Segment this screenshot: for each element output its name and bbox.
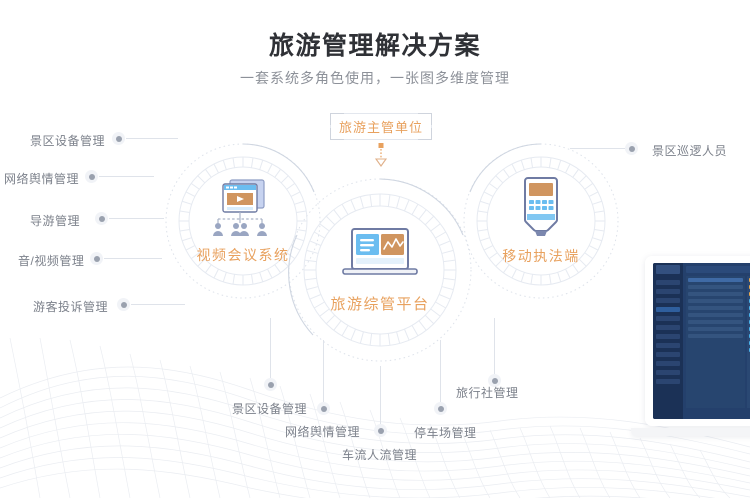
tree-row (688, 320, 743, 324)
sidebar-row (656, 379, 680, 384)
left-line-0 (126, 138, 178, 139)
left-label-3: 音/视频管理 (18, 252, 84, 269)
video-conference-icon (206, 177, 280, 239)
bracket-edge-top (344, 113, 418, 114)
tree-row (688, 299, 743, 303)
tree-row (688, 334, 743, 338)
node-label-mobile-enforcement: 移动执法端 (502, 246, 580, 266)
bracket-edge-bottom (344, 139, 418, 140)
dashboard-ui-mock (653, 263, 750, 419)
bottom-dot-0[interactable] (264, 378, 277, 391)
bottom-line-2 (380, 366, 381, 424)
handheld-terminal-icon (516, 176, 566, 240)
bottom-label-1: 网络舆情管理 (285, 423, 360, 440)
bracket-edge-right (431, 125, 432, 128)
dashboard-brand (656, 265, 680, 274)
bottom-label-0: 景区设备管理 (232, 400, 307, 417)
infographic-canvas: 旅游管理解决方案 一套系统多角色使用，一张图多维度管理 旅游主管单位 (0, 0, 750, 498)
node-label-tourism-platform: 旅游综管平台 (330, 293, 429, 314)
bottom-line-0 (270, 318, 271, 378)
sidebar-row-selected (656, 307, 680, 312)
node-label-video-conference: 视频会议系统 (197, 245, 290, 265)
left-dot-1[interactable] (85, 170, 98, 183)
left-line-2 (109, 218, 164, 219)
tree-row (688, 306, 743, 310)
dashboard-tree-panel (686, 276, 745, 408)
tree-row (688, 313, 743, 317)
laptop-dashboard-icon (339, 227, 421, 287)
sidebar-row (656, 370, 680, 375)
left-dot-2[interactable] (95, 212, 108, 225)
sidebar-row (656, 298, 680, 303)
authority-badge[interactable]: 旅游主管单位 (330, 113, 432, 140)
authority-down-arrow-icon (372, 143, 390, 169)
right-line-0 (570, 148, 625, 149)
sidebar-row (656, 334, 680, 339)
right-label-0: 景区巡逻人员 (652, 142, 727, 159)
sidebar-row (656, 280, 680, 285)
sidebar-row (656, 343, 680, 348)
authority-label: 旅游主管单位 (339, 117, 423, 136)
sidebar-row (656, 361, 680, 366)
left-line-3 (104, 258, 162, 259)
dashboard-body (686, 276, 750, 408)
left-label-4: 游客投诉管理 (33, 298, 108, 315)
page-title: 旅游管理解决方案 (0, 26, 750, 62)
dashboard-sidebar (653, 263, 683, 419)
bottom-line-4 (494, 318, 495, 374)
node-tourism-platform[interactable]: 旅游综管平台 (287, 177, 473, 363)
bottom-label-3: 停车场管理 (414, 424, 477, 441)
right-dot-0[interactable] (625, 142, 638, 155)
sidebar-row (656, 316, 680, 321)
bottom-label-4: 旅行社管理 (456, 384, 519, 401)
tree-row (688, 285, 743, 289)
page-subtitle: 一套系统多角色使用，一张图多维度管理 (0, 68, 750, 88)
left-label-0: 景区设备管理 (30, 132, 105, 149)
bottom-label-2: 车流人流管理 (342, 446, 417, 463)
bottom-dot-1[interactable] (317, 402, 330, 415)
left-line-1 (99, 176, 154, 177)
sidebar-row (656, 325, 680, 330)
tree-row (688, 278, 743, 282)
bracket-edge-left (330, 125, 331, 128)
bottom-dot-3[interactable] (434, 402, 447, 415)
bottom-line-3 (440, 340, 441, 402)
left-label-2: 导游管理 (30, 212, 80, 229)
left-label-1: 网络舆情管理 (4, 170, 79, 187)
sidebar-row (656, 289, 680, 294)
laptop-screen (645, 256, 750, 426)
sidebar-row (656, 352, 680, 357)
left-dot-0[interactable] (112, 132, 125, 145)
tree-row (688, 327, 743, 331)
dashboard-toolbar (686, 266, 750, 273)
dashboard-main (683, 263, 750, 419)
bottom-dot-2[interactable] (374, 424, 387, 437)
tree-row (688, 292, 743, 296)
laptop-base (631, 428, 750, 436)
tourism-dashboard-preview[interactable] (645, 256, 750, 466)
left-dot-3[interactable] (90, 252, 103, 265)
node-mobile-enforcement[interactable]: 移动执法端 (462, 142, 620, 300)
left-dot-4[interactable] (117, 298, 130, 311)
bottom-line-1 (323, 340, 324, 402)
left-line-4 (131, 304, 185, 305)
